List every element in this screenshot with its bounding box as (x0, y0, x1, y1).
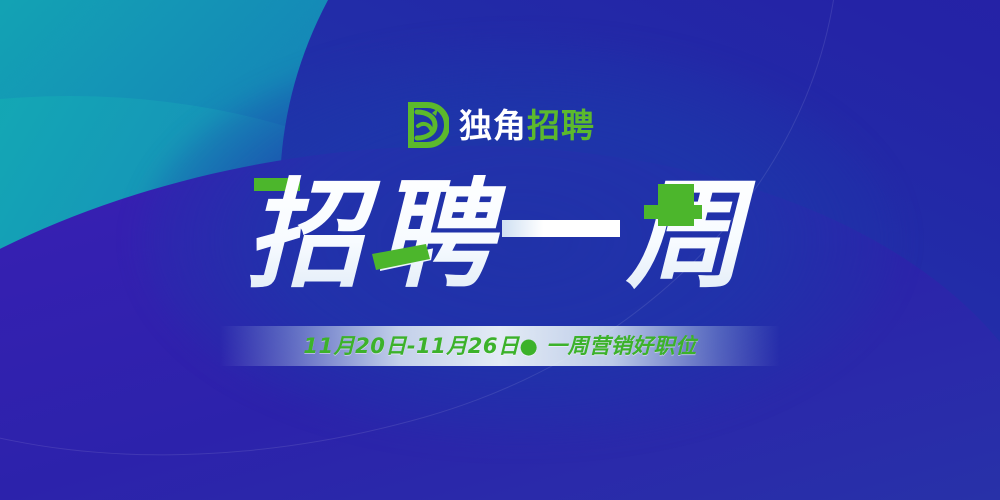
brand-logo: 独角招聘 (405, 102, 595, 148)
brand-logo-text: 独角招聘 (459, 109, 595, 142)
headline-char-3 (502, 220, 620, 237)
brand-name-primary: 独角 (459, 109, 527, 142)
headline-char-1: 招 (246, 166, 381, 304)
headline: 招 聘 周 (240, 158, 760, 308)
subtitle-band: 11月20日-11月26日● 一周营销好职位 (220, 326, 780, 366)
brand-name-accent: 招聘 (527, 109, 595, 142)
unicorn-d-mark-icon (405, 102, 449, 148)
recruitment-banner: 独角招聘 (0, 0, 1000, 500)
headline-artwork: 招 聘 周 (240, 158, 760, 308)
headline-accent-block-cross (644, 205, 702, 219)
banner-content: 独角招聘 (0, 0, 1000, 500)
subtitle-text: 11月20日-11月26日● 一周营销好职位 (303, 336, 696, 357)
headline-char-2: 聘 (374, 166, 507, 304)
